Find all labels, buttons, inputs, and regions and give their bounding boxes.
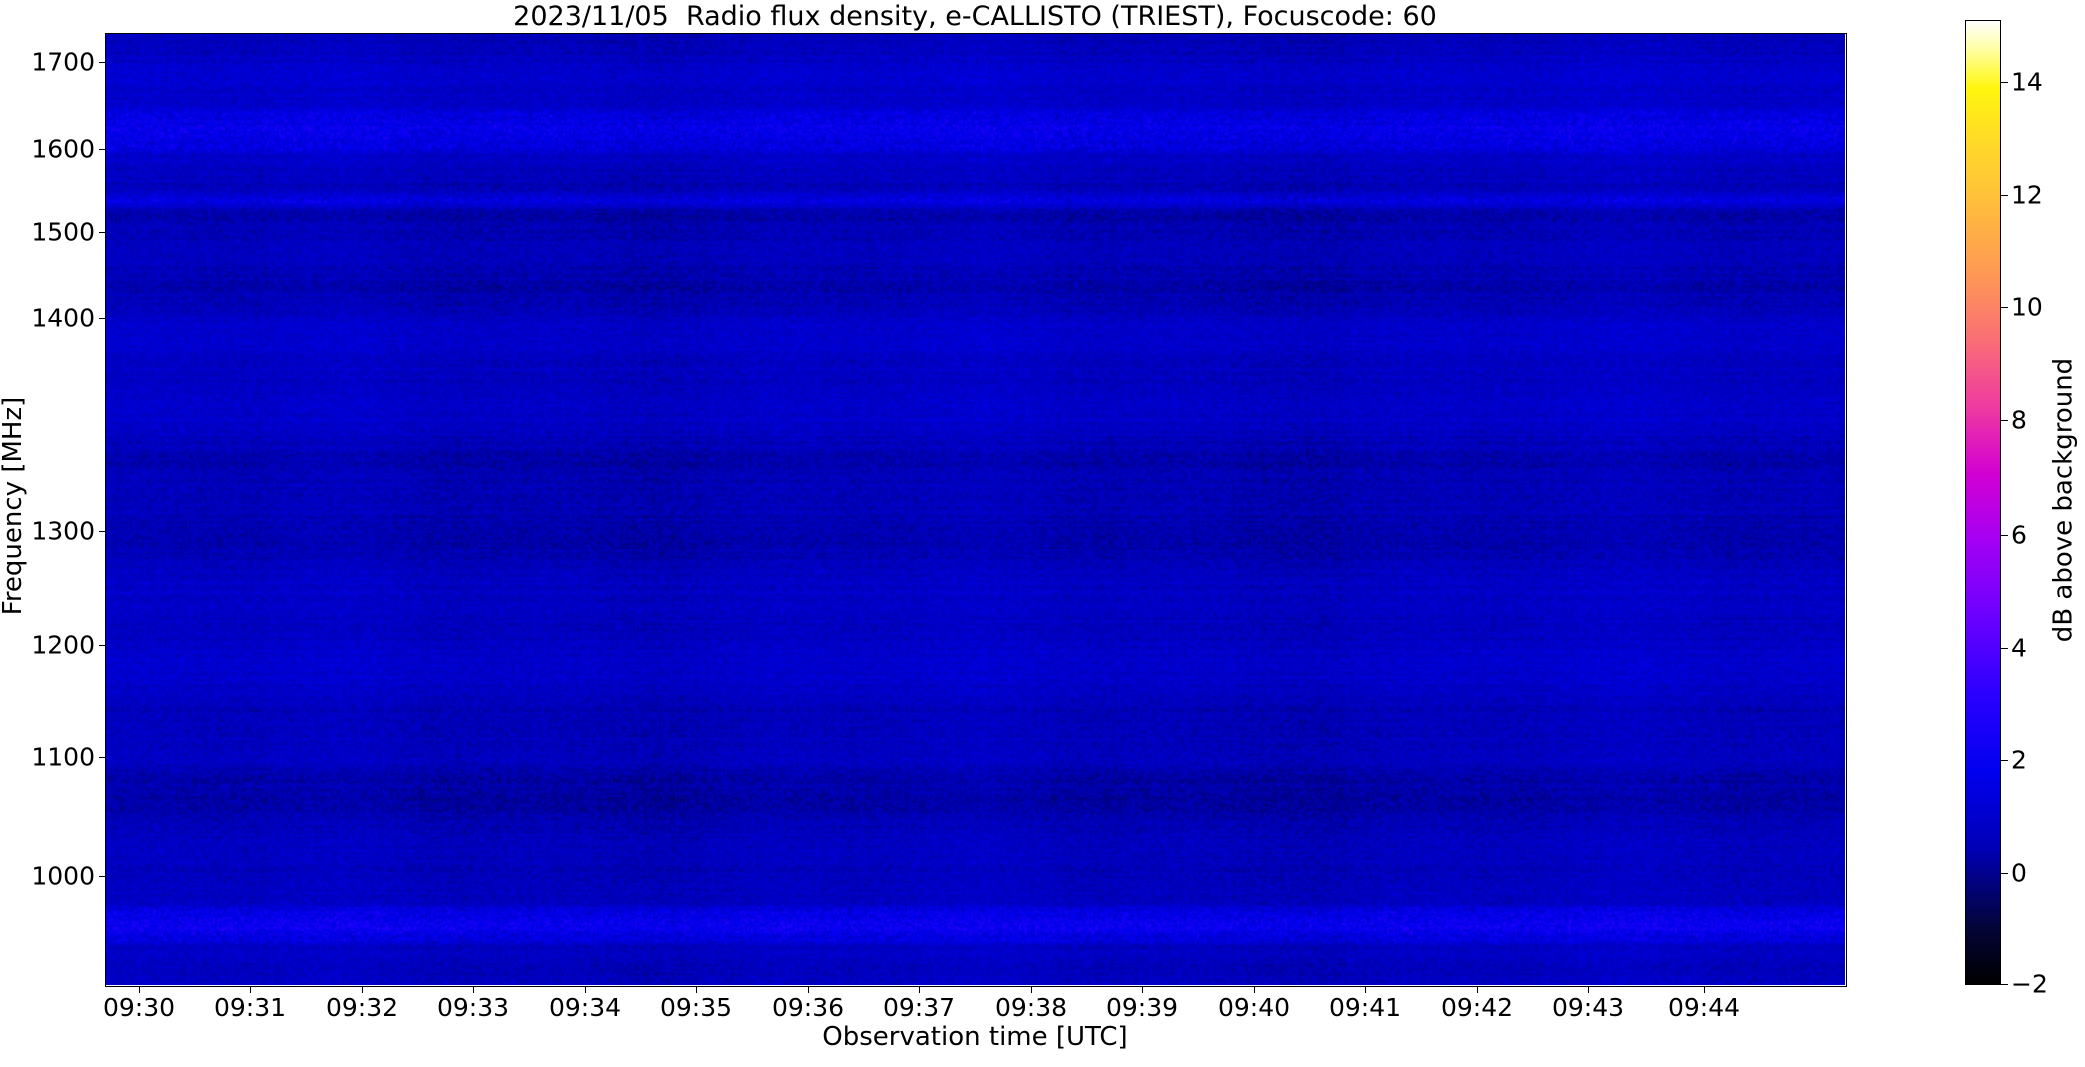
x-tick-mark [1142,986,1143,993]
x-axis-label: Observation time [UTC] [105,1022,1845,1052]
colorbar-tick-mark [2001,648,2008,649]
colorbar-tick-mark [2001,760,2008,761]
colorbar-tick-mark [2001,984,2008,985]
x-tick-mark [473,986,474,993]
y-tick-mark [99,645,106,646]
x-tick-mark [1031,986,1032,993]
colorbar-gradient [1965,20,2001,985]
x-tick-mark [362,986,363,993]
x-tick-mark [808,986,809,993]
x-tick-mark [1588,986,1589,993]
x-tick-mark [1365,986,1366,993]
colorbar-label: dB above background [2048,17,2078,982]
spectrogram-plot-area[interactable] [105,33,1845,985]
colorbar-tick-mark [2001,873,2008,874]
spectrogram-figure: 2023/11/05 Radio flux density, e-CALLIST… [0,0,2085,1067]
spectrogram-image [105,33,1845,985]
x-tick-mark [1254,986,1255,993]
y-axis-label: Frequency [MHz] [0,30,28,982]
x-tick-mark [919,986,920,993]
y-tick-mark [99,62,106,63]
x-tick-mark [1704,986,1705,993]
x-tick-mark [585,986,586,993]
x-tick-label: 09:44 [1624,993,1784,1022]
y-tick-mark [99,876,106,877]
colorbar-tick-mark [2001,307,2008,308]
colorbar-tick-mark [2001,420,2008,421]
colorbar-tick-mark [2001,82,2008,83]
x-tick-mark [250,986,251,993]
colorbar-tick-mark [2001,195,2008,196]
y-tick-mark [99,318,106,319]
y-tick-mark [99,232,106,233]
x-tick-mark [1477,986,1478,993]
page-title: 2023/11/05 Radio flux density, e-CALLIST… [105,1,1845,33]
y-tick-mark [99,531,106,532]
y-tick-mark [99,149,106,150]
x-tick-mark [696,986,697,993]
colorbar-tick-mark [2001,535,2008,536]
y-tick-mark [99,757,106,758]
x-tick-mark [139,986,140,993]
